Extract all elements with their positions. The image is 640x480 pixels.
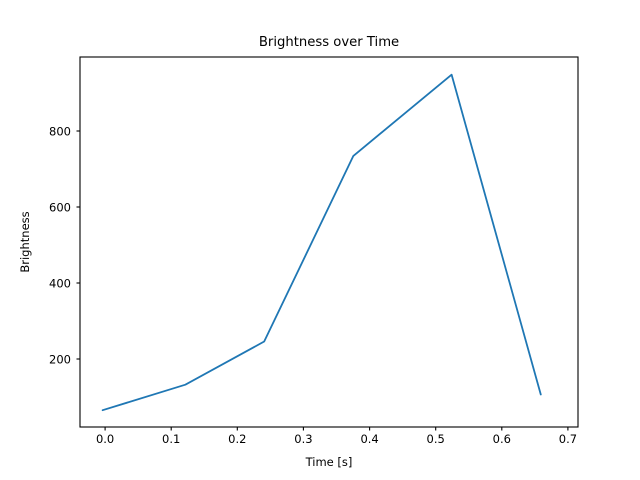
x-axis-tick-labels: 0.0 0.1 0.2 0.3 0.4 0.5 0.6 0.7 <box>96 432 577 446</box>
y-tick-label: 600 <box>49 200 71 214</box>
x-tick-label: 0.3 <box>294 432 312 446</box>
y-tick-label: 200 <box>49 352 71 366</box>
x-tick-label: 0.0 <box>96 432 114 446</box>
x-tick-label: 0.2 <box>228 432 246 446</box>
y-tick-label: 400 <box>49 276 71 290</box>
matplotlib-figure: Brightness over Time 0.0 0.1 0.2 0.3 0.4… <box>0 0 640 480</box>
y-axis-tick-labels: 200 400 600 800 <box>49 124 71 366</box>
chart-title: Brightness over Time <box>259 35 399 50</box>
x-tick-label: 0.6 <box>493 432 511 446</box>
y-tick-label: 800 <box>49 124 71 138</box>
x-tick-label: 0.4 <box>360 432 378 446</box>
plot-area-background <box>80 57 578 427</box>
brightness-over-time-chart: Brightness over Time 0.0 0.1 0.2 0.3 0.4… <box>0 0 640 480</box>
x-tick-label: 0.1 <box>162 432 180 446</box>
x-tick-label: 0.5 <box>427 432 445 446</box>
x-tick-label: 0.7 <box>559 432 577 446</box>
x-axis-label: Time [s] <box>305 455 353 469</box>
y-axis-label: Brightness <box>18 211 32 272</box>
